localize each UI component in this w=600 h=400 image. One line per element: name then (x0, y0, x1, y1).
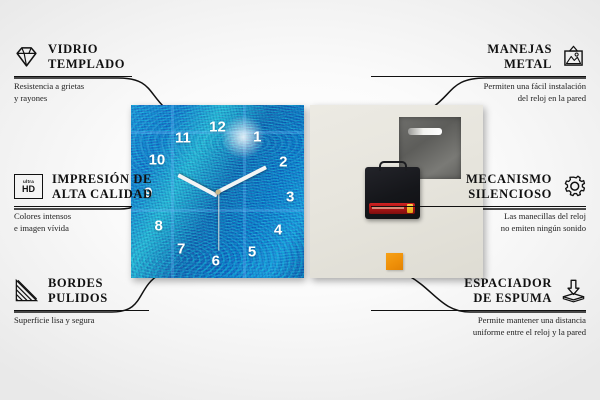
feature-impresion-alta-calidad: ultra HD IMPRESIÓN DE ALTA CALIDAD Color… (14, 172, 229, 234)
feature-mecanismo-silencioso: MECANISMO SILENCIOSO Las manecillas del … (371, 172, 586, 234)
picture-hanger-icon (561, 44, 586, 69)
clock-numeral-7: 7 (177, 241, 185, 256)
feature-header: MECANISMO SILENCIOSO (371, 172, 586, 202)
feature-divider (14, 206, 132, 208)
feature-description: Permite mantener una distancia uniforme … (371, 315, 586, 338)
feature-title: ESPACIADOR DE ESPUMA (464, 276, 552, 306)
clock-numeral-2: 2 (279, 155, 287, 170)
feature-description: Colores intensos e imagen vívida (14, 211, 229, 234)
diamond-icon (14, 44, 39, 69)
clock-numeral-3: 3 (286, 189, 294, 204)
clock-numeral-12: 12 (209, 120, 226, 135)
feature-bordes-pulidos: BORDES PULIDOS Superficie lisa y segura (14, 276, 229, 327)
foam-spacer (386, 253, 403, 270)
clock-numeral-6: 6 (212, 253, 220, 268)
mechanism-hook (379, 161, 407, 171)
feature-divider (371, 310, 586, 312)
polished-edge-icon (14, 278, 39, 303)
foam-spacer-icon (561, 278, 586, 303)
feature-title: IMPRESIÓN DE ALTA CALIDAD (52, 172, 153, 202)
feature-title: VIDRIO TEMPLADO (48, 42, 125, 72)
gear-icon (561, 174, 586, 199)
feature-manejas-metal: MANEJAS METAL Permiten una fácil instala… (371, 42, 586, 104)
feature-title: MANEJAS METAL (487, 42, 552, 72)
feature-vidrio-templado: VIDRIO TEMPLADO Resistencia a grietas y … (14, 42, 229, 104)
feature-description: Superficie lisa y segura (14, 315, 229, 327)
ultra-hd-icon: ultra HD (14, 174, 43, 199)
feature-divider (371, 76, 586, 78)
hd-badge-bottom: HD (22, 185, 35, 194)
clock-numeral-10: 10 (149, 153, 166, 168)
feature-description: Resistencia a grietas y rayones (14, 81, 229, 104)
clock-numeral-11: 11 (175, 130, 191, 145)
feature-header: BORDES PULIDOS (14, 276, 229, 306)
feature-description: Permiten una fácil instalación del reloj… (371, 81, 586, 104)
feature-description: Las manecillas del reloj no emiten ningú… (371, 211, 586, 234)
clock-numeral-1: 1 (253, 130, 261, 145)
feature-espaciador-espuma: ESPACIADOR DE ESPUMA Permite mantener un… (371, 276, 586, 338)
feature-divider (371, 206, 586, 208)
feature-title: MECANISMO SILENCIOSO (466, 172, 552, 202)
feature-header: VIDRIO TEMPLADO (14, 42, 229, 72)
clock-numeral-5: 5 (248, 245, 256, 260)
feature-header: ultra HD IMPRESIÓN DE ALTA CALIDAD (14, 172, 229, 202)
feature-header: MANEJAS METAL (371, 42, 586, 72)
feature-title: BORDES PULIDOS (48, 276, 108, 306)
feature-divider (14, 76, 132, 78)
feature-divider (14, 310, 149, 312)
hanger-keyhole-slot (408, 128, 442, 135)
clock-numeral-4: 4 (274, 222, 282, 237)
feature-header: ESPACIADOR DE ESPUMA (371, 276, 586, 306)
infographic-canvas: 12 1 2 3 4 5 6 7 8 9 10 11 (0, 0, 600, 400)
